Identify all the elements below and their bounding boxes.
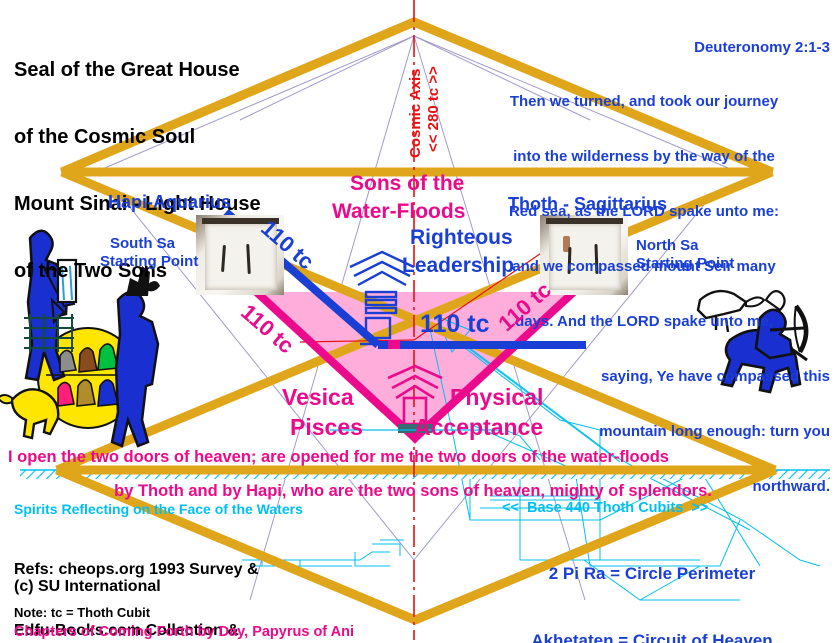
- measure-110tc-center: 110 tc: [420, 310, 490, 338]
- label-righteous: Righteous: [410, 226, 513, 250]
- banner-waters: Spirits Reflecting on the Face of the Wa…: [14, 502, 303, 518]
- label-thoth-sagittarius: Thoth - Sagittarius: [508, 194, 667, 214]
- title-line-1: Seal of the Great House: [14, 59, 261, 81]
- label-sons-line-1: Sons of the: [350, 172, 464, 196]
- scripture-reference: Deuteronomy 2:1-3: [458, 39, 830, 57]
- equation-line-1: 2 Pi Ra = Circle Perimeter: [474, 563, 830, 585]
- banner-base-cubits: << Base 440 Thoth Cubits >>: [502, 500, 708, 516]
- label-vesica-line-1: Vesica: [282, 385, 354, 411]
- banner-line-1: I open the two doors of heaven; are open…: [8, 448, 828, 466]
- scripture-line-1: Then we turned, and took our journey: [458, 93, 830, 111]
- banner-line-2: by Thoth and by Hapi, who are the two so…: [8, 482, 818, 500]
- copyright-text: (c) SU International: [14, 578, 161, 596]
- label-north-sa-2: Starting Point: [636, 256, 734, 273]
- label-south-sa-2: Starting Point: [100, 254, 198, 271]
- diagram-canvas: Seal of the Great House of the Cosmic So…: [0, 0, 834, 643]
- label-sons-line-2: Water-Floods: [332, 200, 465, 224]
- label-leadership: Leadership: [402, 254, 514, 278]
- chamber-marker: [388, 340, 400, 349]
- scripture-line-2: into the wilderness by the way of the: [458, 148, 830, 166]
- papyrus-text: Chapters of Coming Forth by Day, Papyrus…: [14, 624, 354, 640]
- label-physical-line-1: Physical: [450, 385, 543, 411]
- note-text: Note: tc = Thoth Cubit: [14, 606, 150, 621]
- cosmic-axis-measure: << 280 tc >>: [426, 66, 443, 152]
- label-south-sa-1: South Sa: [110, 236, 175, 253]
- equation-line-2: Akhetaten = Circuit of Heaven: [474, 630, 830, 643]
- label-hapi-aquarius: Hapi-Aquarius: [108, 192, 231, 212]
- page-title: Seal of the Great House of the Cosmic So…: [14, 14, 261, 327]
- equations-block: 2 Pi Ra = Circle Perimeter Akhetaten = C…: [474, 518, 830, 643]
- label-vesica-line-2: Pisces: [290, 415, 363, 441]
- title-line-2: of the Cosmic Soul: [14, 126, 261, 148]
- cosmic-axis-label: Cosmic Axis: [408, 69, 425, 158]
- label-north-sa-1: North Sa: [636, 238, 699, 255]
- label-physical-line-2: Acceptance: [414, 415, 543, 441]
